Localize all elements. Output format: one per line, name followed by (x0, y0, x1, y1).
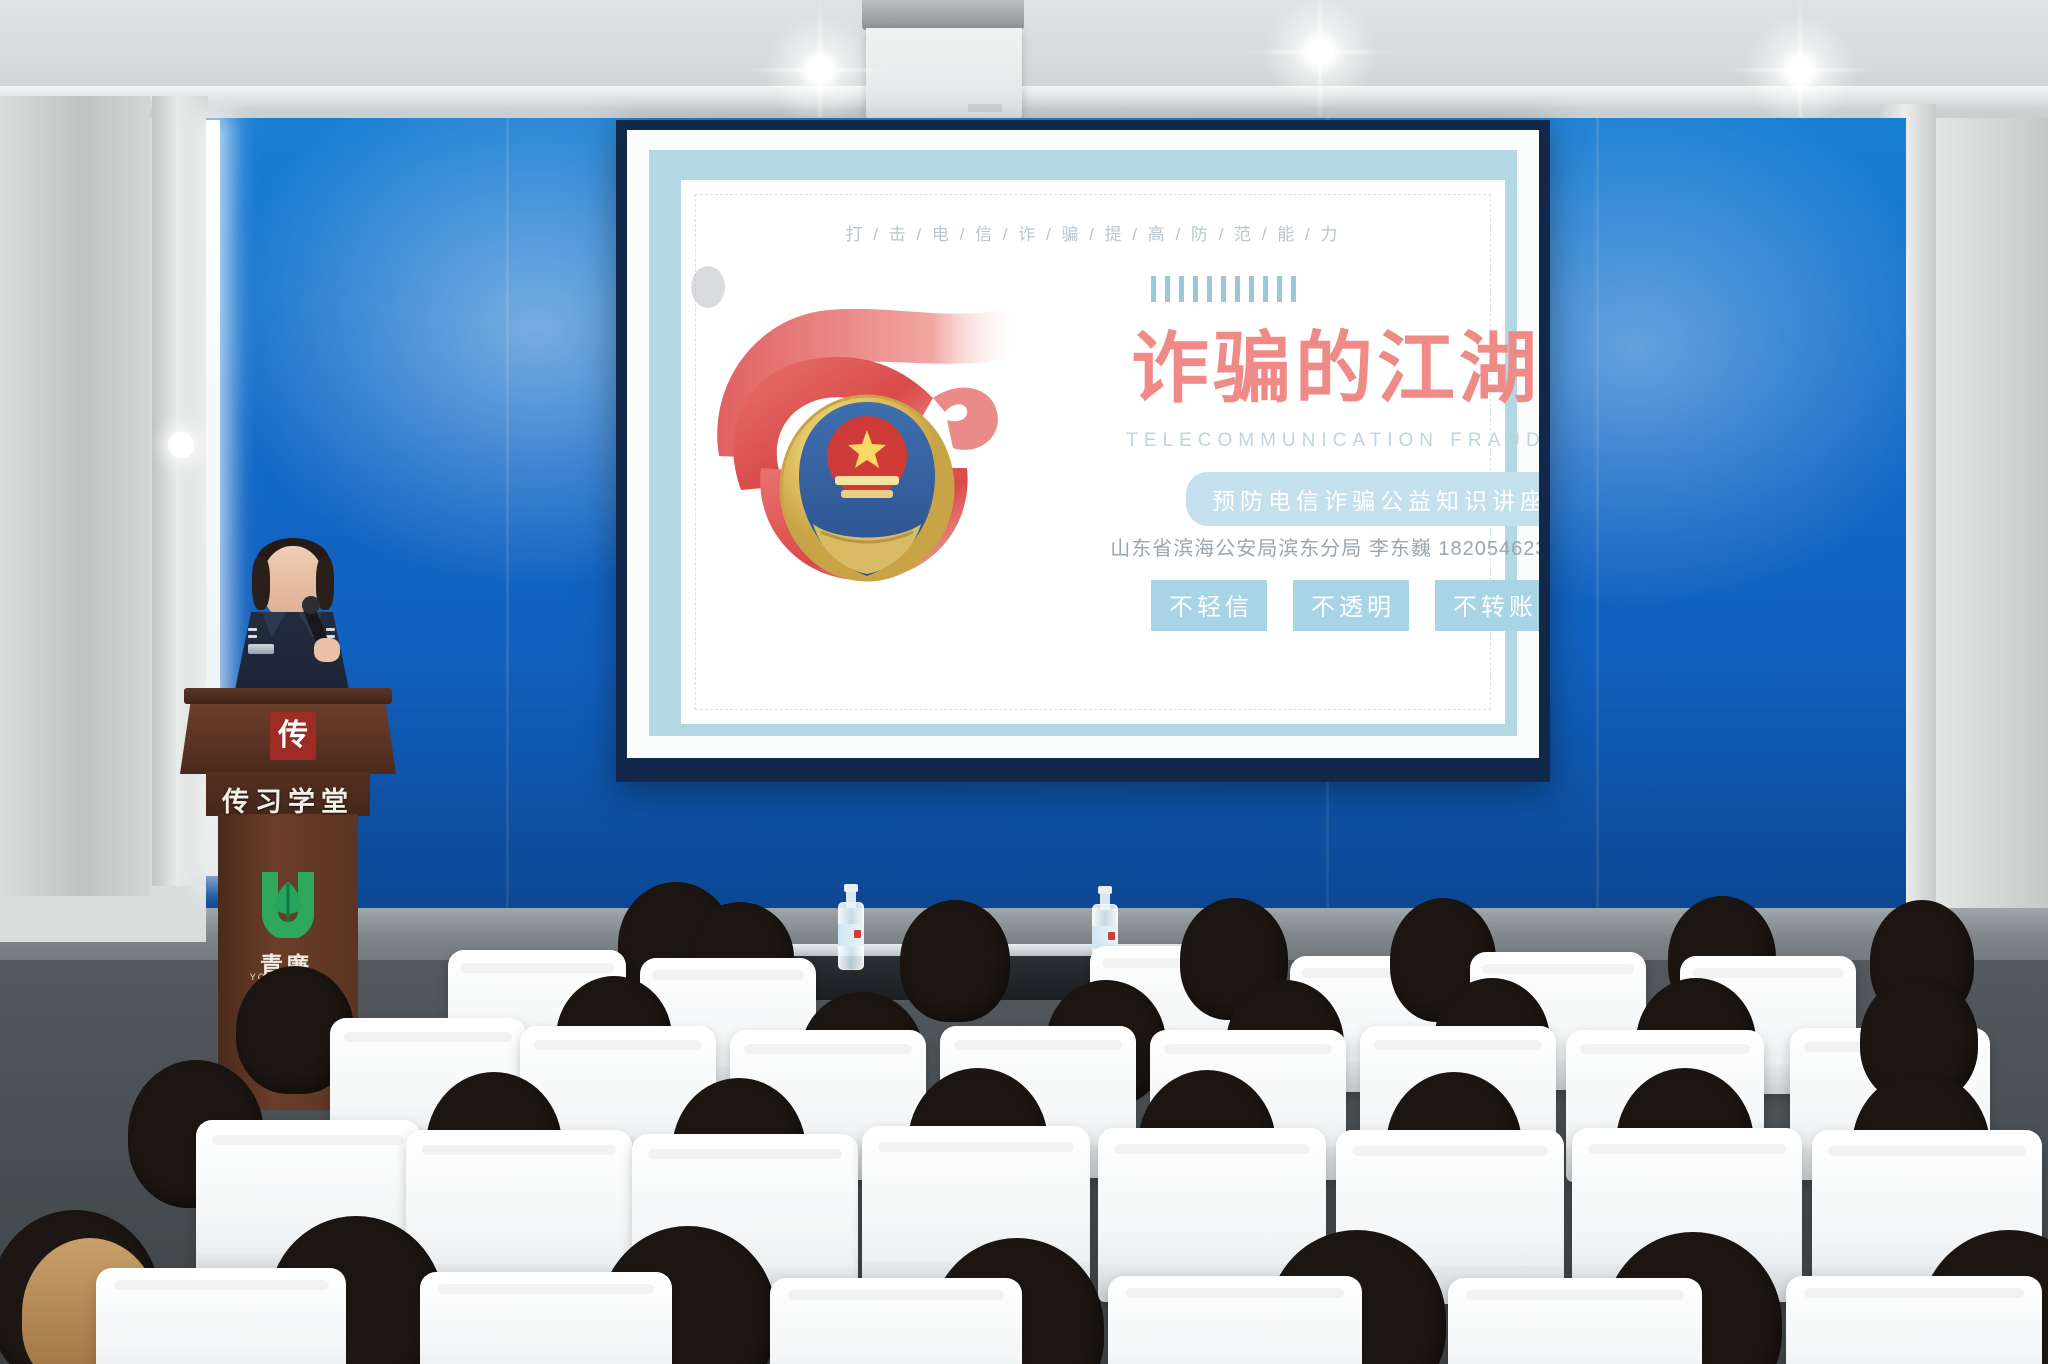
ceiling-beam-upper (0, 86, 2048, 108)
slide-organization-line: 山东省滨海公安局滨东分局 李东巍 18205462390 (1101, 532, 1539, 561)
audience-chair (1448, 1278, 1702, 1364)
podium-top-surface (184, 688, 392, 704)
audience-chair (96, 1268, 346, 1364)
projector-mount (862, 0, 1024, 30)
slogan-tag-2: 不透明 (1293, 580, 1409, 631)
ceiling-spotlight (1740, 10, 1860, 130)
speaker-hair-left (252, 556, 270, 610)
slide-topic-badge: 预防电信诈骗公益知识讲座 (1186, 472, 1539, 526)
audience-chair (420, 1272, 672, 1364)
u-shape-leaf-logo-icon (256, 866, 320, 938)
water-bottle (838, 884, 864, 970)
slide-top-banner: 打 / 击 / 电 / 信 / 诈 / 骗 / 提 / 高 / 防 / 范 / … (681, 220, 1505, 245)
slide-tick-marks (1151, 276, 1296, 302)
slide-title: 诈骗的江湖 (1101, 330, 1539, 408)
right-wall (1918, 118, 2048, 908)
audience-chair (1108, 1276, 1362, 1364)
projection-screen-frame: 打 / 击 / 电 / 信 / 诈 / 骗 / 提 / 高 / 防 / 范 / … (616, 120, 1550, 782)
wall-downlight (168, 432, 194, 458)
china-police-badge-icon (701, 280, 1031, 610)
ceiling-spotlight (760, 10, 880, 130)
audience-chair (770, 1278, 1022, 1364)
speaker-chest-badge (248, 644, 274, 654)
slide-frame: 打 / 击 / 电 / 信 / 诈 / 骗 / 提 / 高 / 防 / 范 / … (649, 150, 1517, 736)
projector-lens (968, 104, 1002, 112)
audience-head (900, 900, 1010, 1022)
slide-canvas: 打 / 击 / 电 / 信 / 诈 / 骗 / 提 / 高 / 防 / 范 / … (681, 180, 1505, 724)
left-pilaster-outer (0, 96, 150, 896)
auditorium-scene: 打 / 击 / 电 / 信 / 诈 / 骗 / 提 / 高 / 防 / 范 / … (0, 0, 2048, 1364)
podium-nameplate: 传习学堂 (184, 780, 392, 819)
slide-subtitle-english: TELECOMMUNICATION FRAUD (1101, 430, 1539, 452)
microphone-head (302, 596, 320, 614)
slogan-tag-1: 不轻信 (1151, 580, 1267, 631)
slide-slogan-tags: 不轻信 不透明 不转账 (1151, 580, 1539, 631)
podium-seal-icon: 传 (270, 712, 316, 760)
slogan-tag-3: 不转账 (1435, 580, 1539, 631)
projection-screen: 打 / 击 / 电 / 信 / 诈 / 骗 / 提 / 高 / 防 / 范 / … (627, 130, 1539, 758)
speaker-hand (314, 638, 340, 662)
audience-chair (1786, 1276, 2042, 1364)
